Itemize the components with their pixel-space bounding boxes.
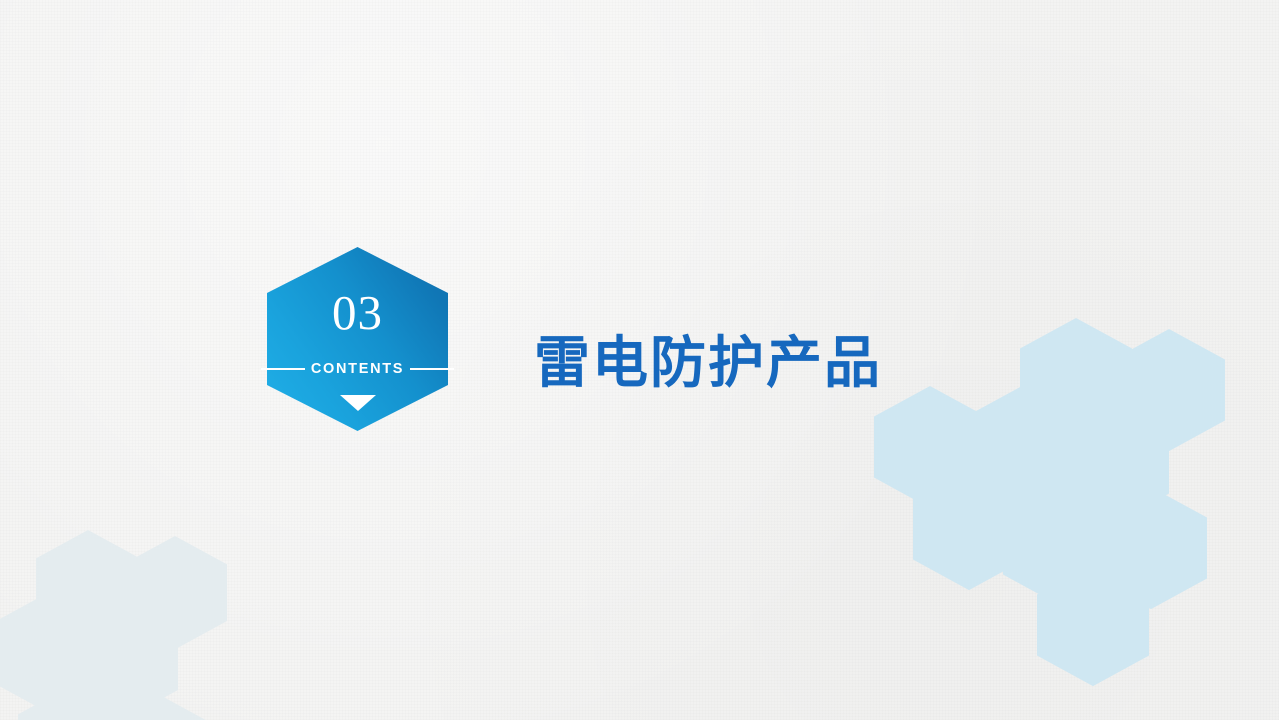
chevron-down-icon — [340, 395, 376, 411]
hexagon-decoration — [1037, 564, 1149, 686]
hexagon-decoration — [1003, 483, 1115, 605]
hexagon-decoration — [106, 694, 210, 720]
hexagon-decoration — [0, 596, 94, 709]
hexagon-decoration — [1095, 487, 1207, 609]
hexagon-decoration — [1020, 318, 1132, 440]
hexagon-decoration — [18, 686, 122, 720]
section-title: 雷电防护产品 — [534, 334, 882, 393]
section-number-badge: 03 CONTENTS — [267, 247, 448, 431]
hexagon-decoration — [1057, 402, 1169, 524]
divider-line-left — [261, 368, 305, 370]
hexagon-decoration — [36, 530, 140, 643]
badge-content: 03 CONTENTS — [267, 247, 448, 431]
hexagon-decoration — [913, 468, 1025, 590]
hexagon-decoration — [74, 605, 178, 718]
badge-contents-row: CONTENTS — [261, 358, 454, 380]
badge-contents-label: CONTENTS — [305, 361, 410, 377]
divider-line-right — [410, 368, 454, 370]
badge-number: 03 — [332, 288, 383, 337]
hexagon-decoration — [966, 386, 1078, 508]
hexagon-decoration — [1113, 329, 1225, 451]
slide-canvas: 03 CONTENTS 雷电防护产品 — [0, 0, 1279, 720]
hexagon-decoration — [874, 386, 986, 508]
hexagon-decoration — [123, 536, 227, 649]
